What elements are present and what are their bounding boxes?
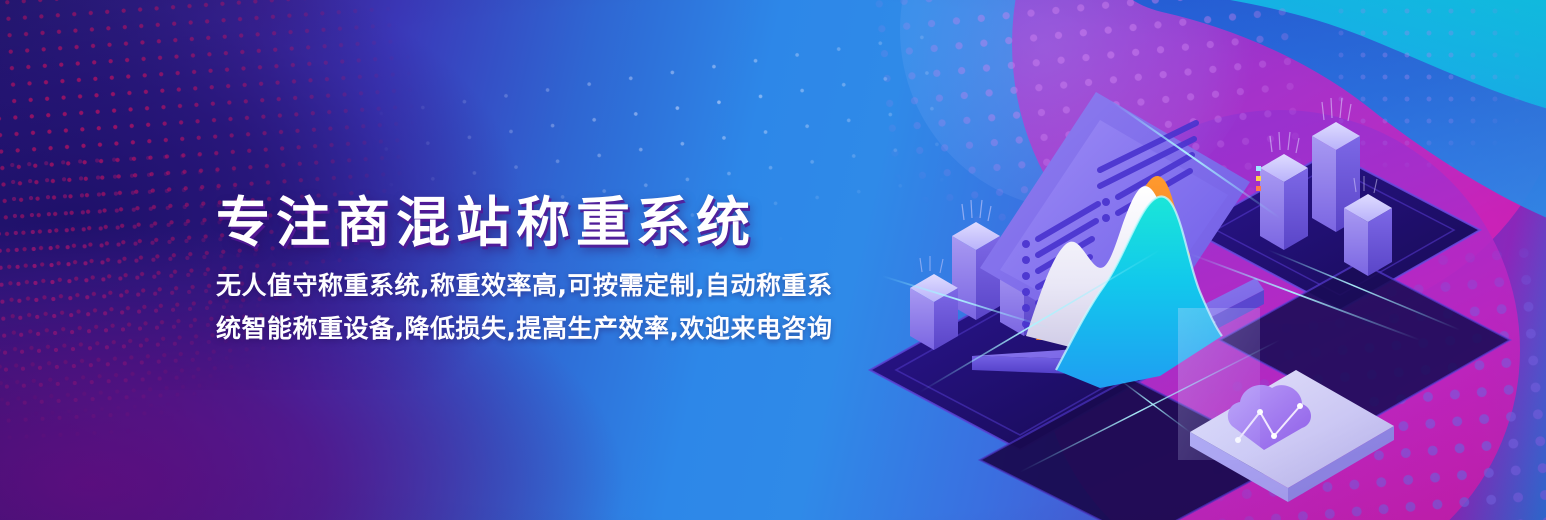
notification-dots (1256, 166, 1261, 191)
banner-headline: 专注商混站称重系统 (216, 194, 916, 252)
promo-banner: 专注商混站称重系统 无人值守称重系统,称重效率高,可按需定制,自动称重系 统智能… (0, 0, 1546, 520)
banner-subtitle-line-1: 无人值守称重系统,称重效率高,可按需定制,自动称重系 (216, 266, 916, 307)
banner-copy: 专注商混站称重系统 无人值守称重系统,称重效率高,可按需定制,自动称重系 统智能… (216, 194, 916, 349)
banner-subtitle-line-2: 统智能称重设备,降低损失,提高生产效率,欢迎来电咨询 (216, 309, 916, 350)
isometric-analytics-illustration (860, 40, 1500, 510)
